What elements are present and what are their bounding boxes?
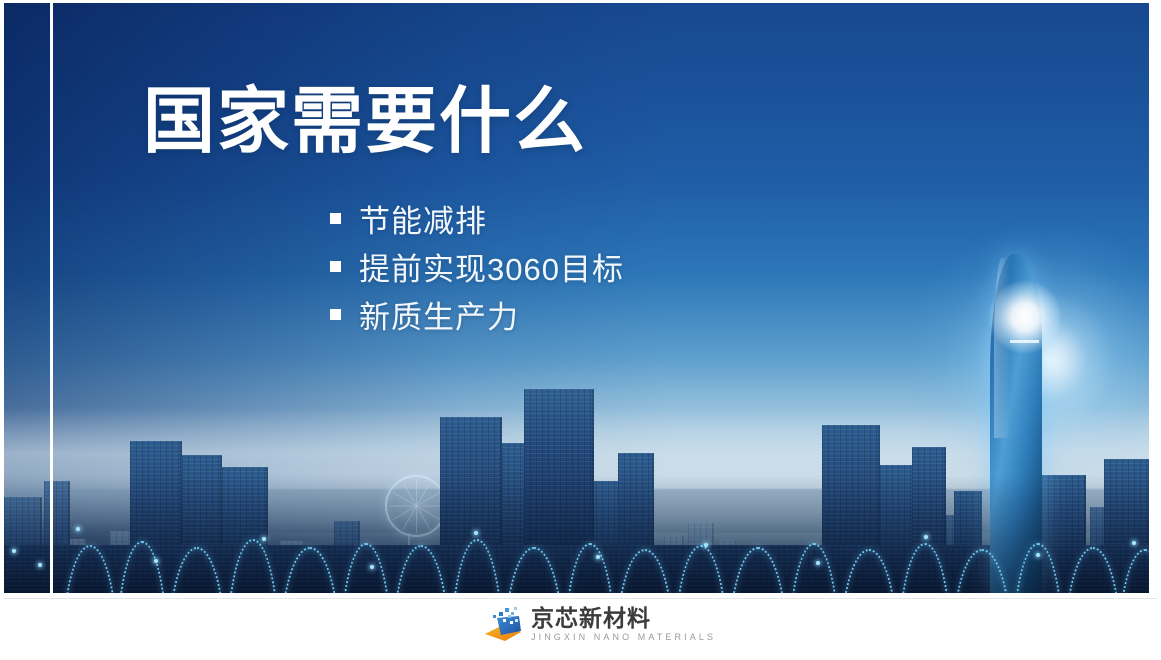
list-item: 节能减排 bbox=[330, 194, 624, 242]
slide-content: 国家需要什么 节能减排 提前实现3060目标 新质生产力 bbox=[0, 0, 1161, 660]
bullet-label: 节能减排 bbox=[359, 196, 487, 241]
bullet-list: 节能减排 提前实现3060目标 新质生产力 bbox=[330, 194, 624, 338]
bullet-label: 新质生产力 bbox=[359, 292, 519, 337]
list-item: 新质生产力 bbox=[330, 290, 624, 338]
presentation-slide: 国家需要什么 节能减排 提前实现3060目标 新质生产力 bbox=[0, 0, 1161, 660]
square-bullet-icon bbox=[330, 213, 341, 224]
square-bullet-icon bbox=[330, 309, 341, 320]
list-item: 提前实现3060目标 bbox=[330, 242, 624, 290]
slide-title: 国家需要什么 bbox=[143, 86, 587, 158]
bullet-label: 提前实现3060目标 bbox=[359, 244, 624, 289]
square-bullet-icon bbox=[330, 261, 341, 272]
